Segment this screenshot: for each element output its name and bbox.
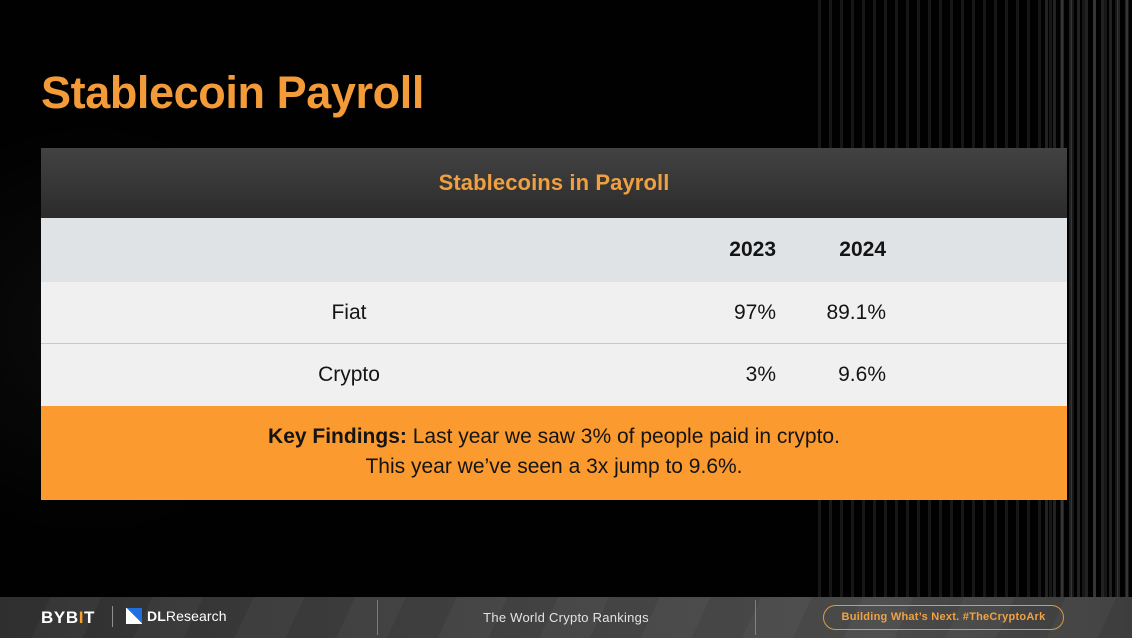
row-fiat-2024: 89.1% — [776, 301, 886, 325]
dlresearch-bold: DL — [147, 608, 166, 624]
row-crypto-2024: 9.6% — [776, 363, 886, 387]
dlresearch-logo: DLResearch — [126, 608, 227, 624]
table-row: Crypto 3% 9.6% — [41, 344, 1067, 406]
footer-center: The World Crypto Rankings — [377, 597, 755, 638]
key-findings-line-1: Key Findings: Last year we saw 3% of peo… — [81, 422, 1027, 452]
table-header-2023: 2023 — [681, 238, 776, 262]
key-findings-banner: Key Findings: Last year we saw 3% of peo… — [41, 406, 1067, 500]
row-label-fiat: Fiat — [41, 301, 681, 325]
row-crypto-2023: 3% — [681, 363, 776, 387]
table-header-row: 2023 2024 — [41, 218, 1067, 282]
bybit-logo: BYBIT — [41, 608, 95, 628]
table-header-2024: 2024 — [776, 238, 886, 262]
table-banner: Stablecoins in Payroll — [41, 148, 1067, 218]
tagline-badge: Building What’s Next. #TheCryptoArk — [823, 605, 1065, 630]
table-banner-title: Stablecoins in Payroll — [439, 170, 670, 196]
row-label-crypto: Crypto — [41, 363, 681, 387]
key-findings-line-2: This year we’ve seen a 3x jump to 9.6%. — [81, 452, 1027, 482]
stablecoins-table: Stablecoins in Payroll 2023 2024 Fiat 97… — [41, 148, 1067, 500]
dlresearch-logo-text: DLResearch — [147, 608, 227, 624]
dlresearch-mark-icon — [126, 608, 142, 624]
row-fiat-2023: 97% — [681, 301, 776, 325]
bybit-logo-part1: BYB — [41, 608, 79, 628]
key-findings-text-1: Last year we saw 3% of people paid in cr… — [407, 425, 840, 448]
footer-right: Building What’s Next. #TheCryptoArk — [755, 597, 1132, 638]
bybit-logo-part2: T — [84, 608, 95, 628]
dlresearch-light: Research — [166, 608, 227, 624]
footer-center-text: The World Crypto Rankings — [483, 610, 649, 625]
page-title: Stablecoin Payroll — [41, 68, 424, 118]
logo-separator — [112, 606, 113, 627]
slide-canvas: Stablecoin Payroll Stablecoins in Payrol… — [0, 0, 1132, 638]
footer-bar: BYBIT DLResearch The World Crypto Rankin… — [0, 597, 1132, 638]
key-findings-label: Key Findings: — [268, 425, 407, 448]
table-row: Fiat 97% 89.1% — [41, 282, 1067, 344]
